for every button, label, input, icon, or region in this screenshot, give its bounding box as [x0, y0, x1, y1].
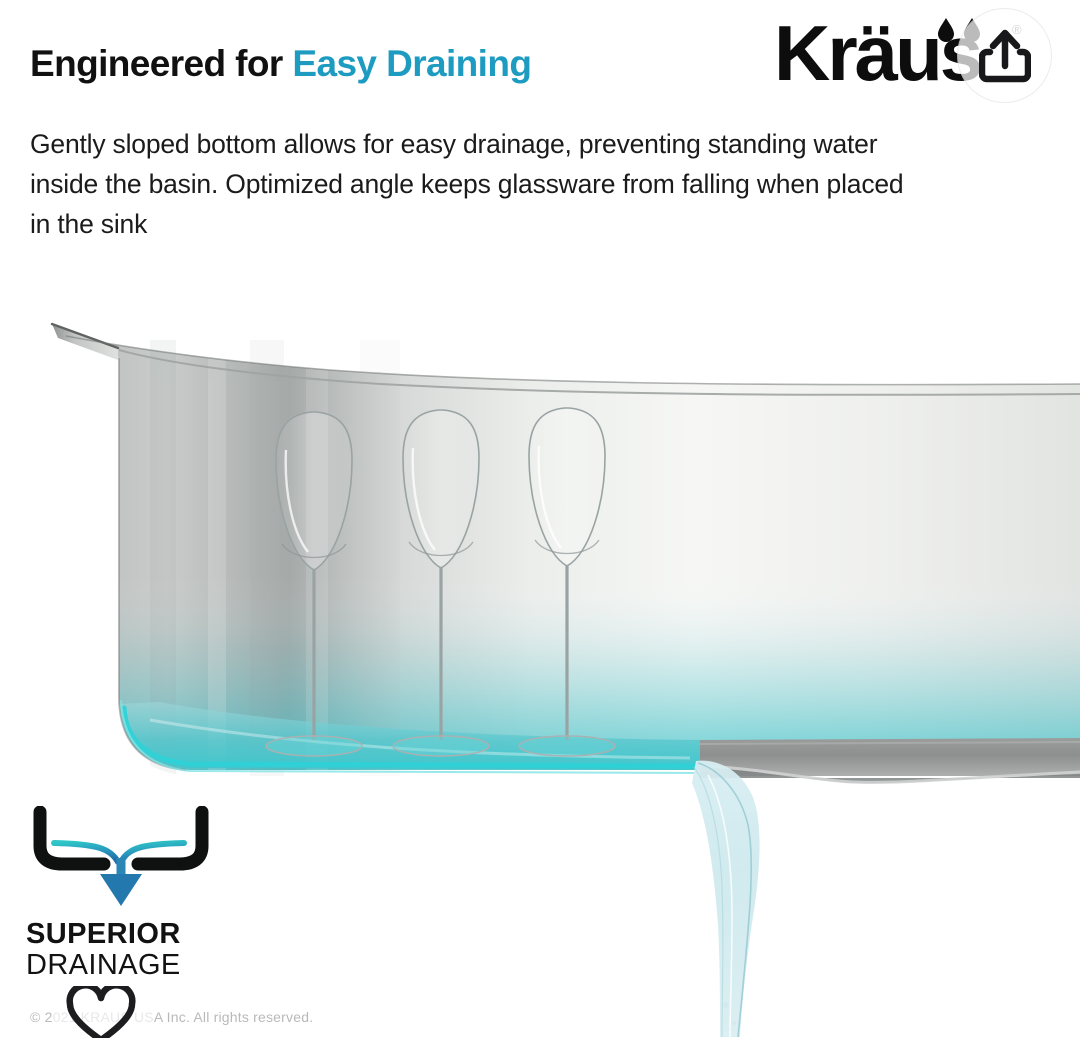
svg-text:Kräus: Kräus — [774, 9, 981, 97]
headline-lead: Engineered for — [30, 43, 292, 84]
headline-accent: Easy Draining — [292, 43, 531, 84]
badge-line-superior: SUPERIOR — [26, 919, 286, 949]
heart-icon — [66, 986, 136, 1038]
page-title: Engineered for Easy Draining — [30, 44, 531, 85]
product-feature-image: Engineered for Easy Draining Gently slop… — [0, 0, 1080, 1038]
sink-cutaway-illustration — [0, 300, 1080, 820]
share-button[interactable] — [957, 8, 1052, 103]
badge-line-drainage: DRAINAGE — [26, 949, 286, 982]
superior-drainage-badge: SUPERIOR DRAINAGE — [26, 806, 286, 983]
superior-drainage-funnel-icon — [26, 806, 216, 911]
draining-water-stream — [690, 755, 890, 1038]
share-icon — [979, 28, 1031, 84]
copyright-prefix: © 2 — [30, 1009, 53, 1025]
favorite-button[interactable] — [64, 985, 138, 1038]
feature-description: Gently sloped bottom allows for easy dra… — [30, 124, 910, 244]
copyright-suffix: A Inc. All rights reserved. — [154, 1009, 313, 1025]
